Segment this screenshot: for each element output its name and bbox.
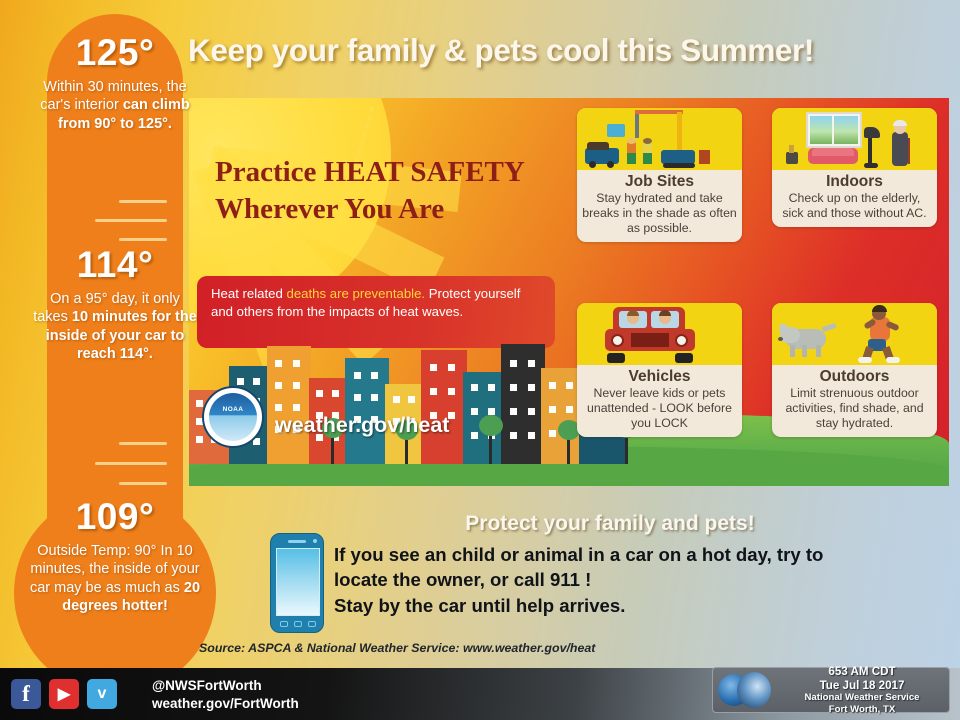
stamp-city: Fort Worth, TX [775, 704, 949, 715]
card-text: Never leave kids or pets unattended - LO… [577, 386, 742, 437]
building [267, 346, 311, 464]
phone-speaker [288, 540, 306, 543]
stamp-time: 653 AM CDT [775, 665, 949, 679]
nws-noaa-logos [713, 670, 775, 710]
phone-home-button [294, 621, 302, 627]
thermometer-tick [95, 462, 167, 465]
infographic-title-line2: Wherever You Are [215, 191, 619, 228]
vehicles-illustration [577, 303, 742, 365]
thermometer-tick [119, 200, 167, 203]
thermometer-tick [119, 442, 167, 445]
thermometer-tick [95, 219, 167, 222]
instruction-line-1: If you see an child or animal in a car o… [334, 542, 934, 567]
noaa-logo: NOAA [202, 386, 264, 448]
temperature-value: 109° [15, 498, 215, 537]
office-website[interactable]: weather.gov/FortWorth [152, 695, 299, 713]
heat-safety-poster: 125° Within 30 minutes, the car's interi… [0, 0, 960, 720]
stamp-date: Tue Jul 18 2017 [775, 679, 949, 693]
temperature-description: On a 95° day, it only takes 10 minutes f… [15, 290, 215, 364]
weather-gov-heat-url: weather.gov/heat [275, 413, 449, 438]
stamp-office: National Weather Service [775, 692, 949, 703]
card-title: Job Sites [577, 173, 742, 191]
banner-highlight: deaths are preventable. [287, 286, 426, 301]
card-text: Stay hydrated and take breaks in the sha… [577, 191, 742, 242]
heat-safety-infographic: Practice HEAT SAFETY Wherever You Are He… [189, 98, 949, 486]
card-vehicles: Vehicles Never leave kids or pets unatte… [577, 303, 742, 437]
page-title: Keep your family & pets cool this Summer… [188, 26, 960, 74]
twitter-handle[interactable]: @NWSFortWorth [152, 677, 299, 695]
temperature-block-114: 114° On a 95° day, it only takes 10 minu… [15, 246, 215, 364]
instruction-line-2: locate the owner, or call 911 ! [334, 567, 934, 592]
indoors-illustration [772, 108, 937, 170]
phone-screen [276, 548, 320, 616]
thermometer-tick [119, 482, 167, 485]
job-sites-illustration [577, 108, 742, 170]
phone-menu-button [308, 621, 316, 627]
building [345, 358, 389, 464]
protect-heading: Protect your family and pets! [330, 512, 890, 536]
infographic-title-line1: Practice HEAT SAFETY [215, 154, 619, 191]
thermometer-tick [119, 238, 167, 241]
card-job-sites: Job Sites Stay hydrated and take breaks … [577, 108, 742, 242]
card-text: Check up on the elderly, sick and those … [772, 191, 937, 227]
infographic-title: Practice HEAT SAFETY Wherever You Are [215, 154, 619, 228]
temperature-value: 114° [15, 246, 215, 285]
source-attribution: Source: ASPCA & National Weather Service… [199, 641, 595, 655]
phone-camera [313, 539, 317, 543]
temperature-description: Outside Temp: 90° In 10 minutes, the ins… [15, 542, 215, 616]
smartphone-icon [270, 533, 324, 633]
building [421, 350, 467, 464]
noaa-seal-label: NOAA [209, 393, 257, 441]
facebook-icon[interactable]: f [11, 679, 41, 709]
card-text: Limit strenuous outdoor activities, find… [772, 386, 937, 437]
footer-handles: @NWSFortWorth weather.gov/FortWorth [152, 677, 299, 713]
temperature-description: Within 30 minutes, the car's interior ca… [15, 78, 215, 134]
temperature-value: 125° [15, 34, 215, 73]
phone-back-button [280, 621, 288, 627]
outdoors-illustration [772, 303, 937, 365]
banner-lead: Heat related [211, 286, 287, 301]
card-indoors: Indoors Check up on the elderly, sick an… [772, 108, 937, 227]
twitter-icon[interactable]: ᴠ [87, 679, 117, 709]
instruction-line-3: Stay by the car until help arrives. [334, 593, 934, 618]
temperature-block-109: 109° Outside Temp: 90° In 10 minutes, th… [15, 498, 215, 616]
card-title: Outdoors [772, 368, 937, 386]
youtube-icon[interactable]: ▶ [49, 679, 79, 709]
card-title: Indoors [772, 173, 937, 191]
nws-seal-icon [737, 672, 771, 708]
tree-foliage [479, 415, 503, 436]
card-outdoors: Outdoors Limit strenuous outdoor activit… [772, 303, 937, 437]
protect-instructions: If you see an child or animal in a car o… [334, 542, 934, 618]
nws-timestamp-stamp: 653 AM CDT Tue Jul 18 2017 National Weat… [712, 667, 950, 713]
building [501, 344, 545, 464]
temperature-block-125: 125° Within 30 minutes, the car's interi… [15, 34, 215, 133]
card-title: Vehicles [577, 368, 742, 386]
stamp-text-block: 653 AM CDT Tue Jul 18 2017 National Weat… [775, 665, 949, 715]
